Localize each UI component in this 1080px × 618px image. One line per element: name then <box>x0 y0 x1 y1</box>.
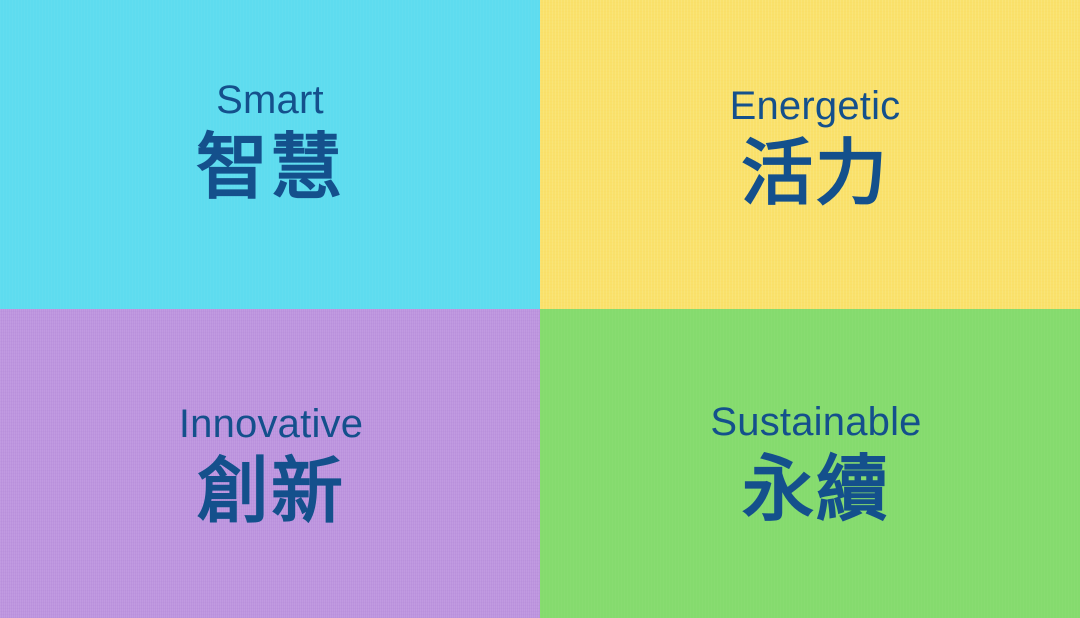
quadrant-grid: Smart 智慧 Energetic 活力 Innovative 創新 Sust… <box>0 0 1080 618</box>
quadrant-sustainable[interactable]: Sustainable 永續 <box>540 309 1080 618</box>
quadrant-sustainable-english-label: Sustainable <box>710 402 921 442</box>
quadrant-smart-english-label: Smart <box>216 80 324 120</box>
quadrant-innovative-chinese-label: 創新 <box>197 456 345 528</box>
quadrant-sustainable-chinese-label: 永續 <box>742 454 890 526</box>
quadrant-smart-chinese-label: 智慧 <box>196 132 344 204</box>
quadrant-energetic[interactable]: Energetic 活力 <box>540 0 1080 309</box>
label-block-innovative: Innovative 創新 <box>179 404 363 528</box>
quadrant-innovative-english-label: Innovative <box>179 404 363 444</box>
quadrant-energetic-chinese-label: 活力 <box>741 138 889 210</box>
label-block-sustainable: Sustainable 永續 <box>710 402 921 526</box>
label-block-energetic: Energetic 活力 <box>730 86 901 210</box>
brand-values-canvas: Smart 智慧 Energetic 活力 Innovative 創新 Sust… <box>0 0 1080 618</box>
quadrant-smart[interactable]: Smart 智慧 <box>0 0 540 309</box>
label-block-smart: Smart 智慧 <box>196 80 344 204</box>
quadrant-energetic-english-label: Energetic <box>730 86 901 126</box>
quadrant-innovative[interactable]: Innovative 創新 <box>0 309 540 618</box>
